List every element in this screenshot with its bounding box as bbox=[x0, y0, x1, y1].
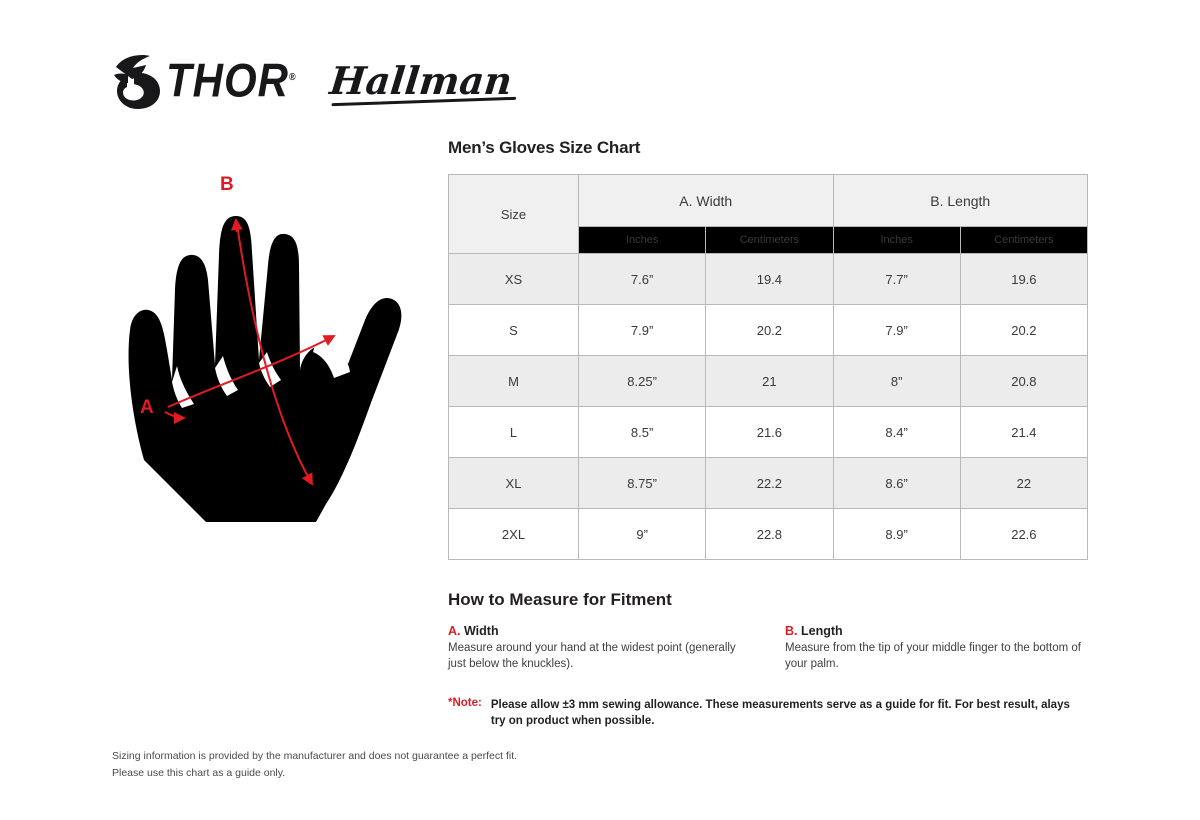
column-group-header-length: B. Length bbox=[833, 175, 1088, 227]
cell-size: XL bbox=[449, 458, 579, 509]
cell-width-inches: 7.6” bbox=[579, 254, 706, 305]
measure-item-length-description: Measure from the tip of your middle fing… bbox=[785, 641, 1088, 673]
annotation-label-b: B bbox=[220, 174, 234, 195]
measure-item-width-description: Measure around your hand at the widest p… bbox=[448, 641, 751, 673]
table-row: XS 7.6” 19.4 7.7” 19.6 bbox=[449, 254, 1088, 305]
page-title: Men’s Gloves Size Chart bbox=[448, 138, 1088, 158]
footer-disclaimer: Sizing information is provided by the ma… bbox=[112, 748, 517, 782]
cell-width-inches: 7.9” bbox=[579, 305, 706, 356]
cell-size: XS bbox=[449, 254, 579, 305]
cell-length-inches: 7.9” bbox=[833, 305, 960, 356]
cell-width-centimeters: 19.4 bbox=[706, 254, 833, 305]
cell-length-inches: 8.4” bbox=[833, 407, 960, 458]
thor-wordmark-text: THOR bbox=[166, 54, 289, 107]
table-row: S 7.9” 20.2 7.9” 20.2 bbox=[449, 305, 1088, 356]
measure-item-width-marker: A. bbox=[448, 624, 461, 638]
measure-item-length: B. Length Measure from the tip of your m… bbox=[785, 624, 1088, 673]
brand-logo-bar: THOR® Hallman bbox=[112, 52, 512, 110]
thor-wordmark: THOR® bbox=[166, 57, 296, 104]
cell-width-centimeters: 21 bbox=[706, 356, 833, 407]
table-header-row-groups: Size A. Width B. Length bbox=[449, 175, 1088, 227]
cell-length-inches: 7.7” bbox=[833, 254, 960, 305]
annotation-label-a: A bbox=[140, 397, 154, 418]
hand-diagram-svg: A B bbox=[120, 160, 430, 530]
measure-item-length-label: B. Length bbox=[785, 624, 1088, 638]
column-header-size: Size bbox=[449, 175, 579, 254]
cell-length-centimeters: 21.4 bbox=[960, 407, 1087, 458]
thor-helmet-icon bbox=[112, 53, 164, 109]
cell-width-inches: 9” bbox=[579, 509, 706, 560]
measure-item-width-name: Width bbox=[464, 624, 499, 638]
hand-silhouette-icon bbox=[129, 216, 402, 522]
cell-width-inches: 8.5” bbox=[579, 407, 706, 458]
size-chart-table: Size A. Width B. Length Inches Centimete… bbox=[448, 174, 1088, 560]
cell-length-inches: 8” bbox=[833, 356, 960, 407]
table-row: XL 8.75” 22.2 8.6” 22 bbox=[449, 458, 1088, 509]
measure-item-length-marker: B. bbox=[785, 624, 798, 638]
cell-width-centimeters: 20.2 bbox=[706, 305, 833, 356]
cell-size: M bbox=[449, 356, 579, 407]
measure-item-width-label: A. Width bbox=[448, 624, 751, 638]
thor-logo: THOR® bbox=[112, 53, 296, 109]
thor-registered-mark: ® bbox=[289, 71, 296, 82]
column-header-length-centimeters: Centimeters bbox=[960, 227, 1087, 254]
cell-width-centimeters: 22.2 bbox=[706, 458, 833, 509]
cell-length-inches: 8.6” bbox=[833, 458, 960, 509]
table-body: XS 7.6” 19.4 7.7” 19.6 S 7.9” 20.2 7.9” … bbox=[449, 254, 1088, 560]
cell-length-centimeters: 19.6 bbox=[960, 254, 1087, 305]
cell-length-centimeters: 22.6 bbox=[960, 509, 1087, 560]
note-label: *Note: bbox=[448, 697, 482, 709]
note-text: Please allow ±3 mm sewing allowance. The… bbox=[491, 697, 1083, 730]
measure-item-length-name: Length bbox=[801, 624, 843, 638]
table-header: Size A. Width B. Length Inches Centimete… bbox=[449, 175, 1088, 254]
how-to-measure-columns: A. Width Measure around your hand at the… bbox=[448, 624, 1088, 673]
how-to-measure-title: How to Measure for Fitment bbox=[448, 590, 1088, 610]
footer-line-1: Sizing information is provided by the ma… bbox=[112, 748, 517, 765]
cell-width-inches: 8.25” bbox=[579, 356, 706, 407]
cell-width-centimeters: 22.8 bbox=[706, 509, 833, 560]
cell-size: 2XL bbox=[449, 509, 579, 560]
column-header-width-inches: Inches bbox=[579, 227, 706, 254]
measure-item-width: A. Width Measure around your hand at the… bbox=[448, 624, 751, 673]
hand-measurement-diagram: A B bbox=[120, 160, 430, 530]
column-header-width-centimeters: Centimeters bbox=[706, 227, 833, 254]
cell-size: S bbox=[449, 305, 579, 356]
table-row: L 8.5” 21.6 8.4” 21.4 bbox=[449, 407, 1088, 458]
note-section: *Note: Please allow ±3 mm sewing allowan… bbox=[448, 697, 1088, 730]
cell-width-centimeters: 21.6 bbox=[706, 407, 833, 458]
cell-length-centimeters: 20.2 bbox=[960, 305, 1087, 356]
cell-size: L bbox=[449, 407, 579, 458]
column-group-header-width: A. Width bbox=[579, 175, 834, 227]
cell-length-centimeters: 22 bbox=[960, 458, 1087, 509]
table-row: 2XL 9” 22.8 8.9” 22.6 bbox=[449, 509, 1088, 560]
hallman-wordmark-text: Hallman bbox=[327, 58, 514, 103]
how-to-measure-section: How to Measure for Fitment A. Width Meas… bbox=[448, 590, 1088, 673]
cell-width-inches: 8.75” bbox=[579, 458, 706, 509]
cell-length-centimeters: 20.8 bbox=[960, 356, 1087, 407]
hallman-logo: Hallman bbox=[328, 62, 514, 100]
cell-length-inches: 8.9” bbox=[833, 509, 960, 560]
table-row: M 8.25” 21 8” 20.8 bbox=[449, 356, 1088, 407]
footer-line-2: Please use this chart as a guide only. bbox=[112, 765, 517, 782]
column-header-length-inches: Inches bbox=[833, 227, 960, 254]
size-chart-content: Men’s Gloves Size Chart Size A. Width B.… bbox=[448, 138, 1088, 730]
